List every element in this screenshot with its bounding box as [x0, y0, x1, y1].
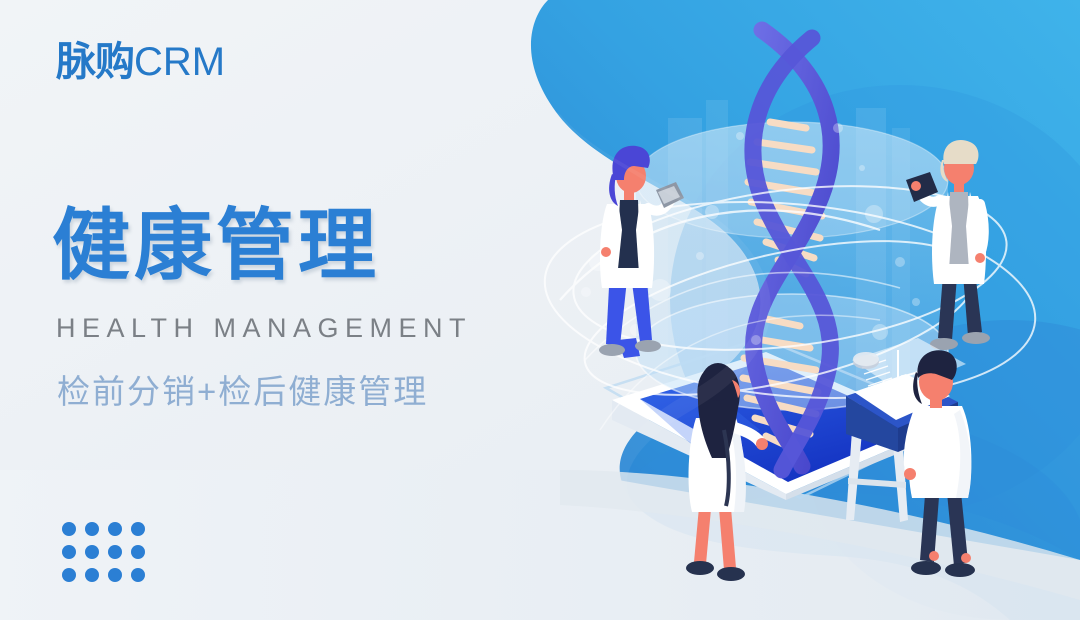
- brand-logo[interactable]: 脉购CRM: [56, 42, 225, 82]
- decor-dot: [131, 522, 145, 536]
- decor-dot: [131, 568, 145, 582]
- decor-dot: [62, 545, 76, 559]
- decor-dot: [108, 568, 122, 582]
- banner-canvas: 脉购CRM 健康管理 HEALTH MANAGEMENT 检前分销+检后健康管理: [0, 0, 1080, 620]
- decor-dot: [62, 568, 76, 582]
- decor-dot: [85, 568, 99, 582]
- dot-grid-decoration: [62, 522, 145, 582]
- decor-dot: [108, 545, 122, 559]
- page-tagline: 检前分销+检后健康管理: [57, 375, 428, 408]
- decor-dot: [108, 522, 122, 536]
- brand-logo-en: CRM: [134, 40, 225, 84]
- decor-dot: [85, 522, 99, 536]
- decor-dot: [131, 545, 145, 559]
- page-subtitle-english: HEALTH MANAGEMENT: [56, 315, 472, 342]
- decor-dot: [62, 522, 76, 536]
- page-title: 健康管理: [52, 206, 380, 284]
- brand-logo-cn: 脉购: [56, 40, 134, 84]
- text-panel: 脉购CRM 健康管理 HEALTH MANAGEMENT 检前分销+检后健康管理: [0, 0, 560, 620]
- decor-dot: [85, 545, 99, 559]
